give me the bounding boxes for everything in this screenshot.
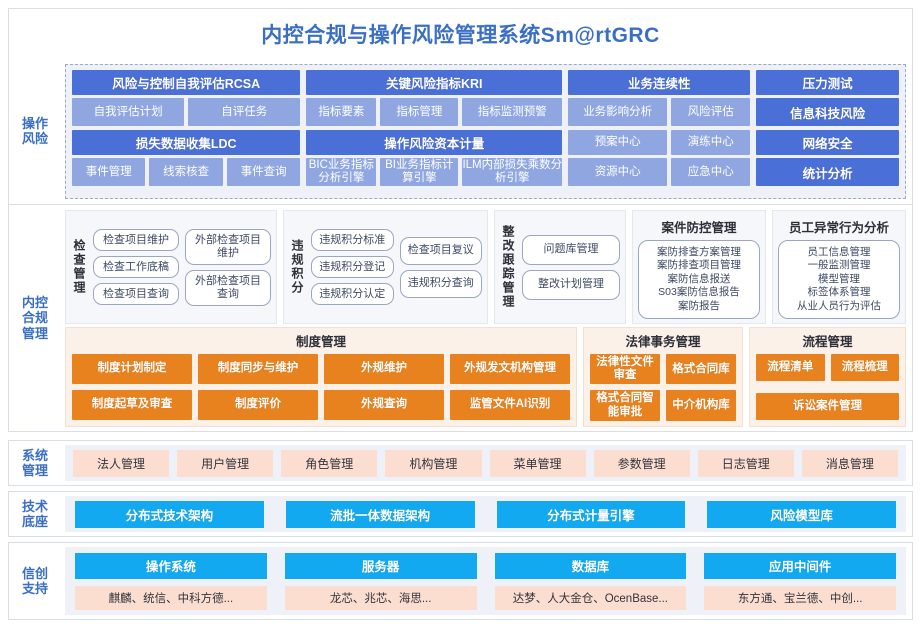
pill-inspection-working-paper[interactable]: 检查工作底稿 <box>93 256 179 278</box>
card-title-employee-abnormal-behavior: 员工异常行为分析 <box>778 215 900 236</box>
grid-legal-affairs: 法律性文件审查 格式合同智能审批 格式合同库 中介机构库 <box>590 354 736 421</box>
op-subrow-rcsa: 自我评估计划 自评任务 <box>72 98 300 126</box>
btn-policy-sync-maintenance[interactable]: 制度同步与维护 <box>198 354 318 384</box>
btn-regulatory-document-ai-recognition[interactable]: 监管文件AI识别 <box>450 390 570 420</box>
btn-process-combing[interactable]: 流程梳理 <box>831 354 900 381</box>
process-row-1: 流程清单 流程梳理 <box>756 354 899 381</box>
pillcol-rectification: 问题库管理 整改计划管理 <box>522 235 620 300</box>
card-label-rectification-tracking: 整改跟踪管理 <box>500 225 516 309</box>
op-group-capital-measurement: 操作风险资本计量 BIC业务指标分析引擎 BI业务指标计算引擎 ILM内部损失乘… <box>306 130 562 186</box>
card-employee-abnormal-behavior: 员工异常行为分析 员工信息管理 一般监测管理 模型管理 标签体系管理 从业人员行… <box>772 210 906 324</box>
pillcol-inspection-b: 外部检查项目维护 外部检查项目查询 <box>185 229 271 306</box>
op-subrow-it-risk: 信息科技风险 <box>756 98 899 126</box>
op-header-ldc[interactable]: 损失数据收集LDC <box>72 130 300 155</box>
band-label-line-2: 支持 <box>22 581 48 596</box>
list-item-case-plan-management: 案防排查方案管理 <box>645 246 753 259</box>
op-group-centers: 预案中心 演练中心 资源中心 应急中心 <box>568 130 750 186</box>
band-xinchuang-support: 信创 支持 操作系统 麒麟、统信、中科方德... 服务器 龙芯、兆芯、海思...… <box>8 542 913 620</box>
band-operational-risk: 操作 风险 风险与控制自我评估RCSA 自我评估计划 自评任务 关键风险指标KR… <box>8 58 913 205</box>
tech-item-risk-model-library[interactable]: 风险模型库 <box>707 501 896 528</box>
op-subrow-kri: 指标要素 指标管理 指标监测预警 <box>306 98 562 126</box>
page-title-bar: 内控合规与操作风险管理系统Sm@rtGRC <box>8 8 913 58</box>
op-group-business-continuity: 业务连续性 业务影响分析 风险评估 <box>568 70 750 126</box>
grid-process-management: 流程清单 流程梳理 诉讼案件管理 <box>756 354 899 420</box>
sys-item-user-management[interactable]: 用户管理 <box>177 450 273 477</box>
op-item-indicator-elements[interactable]: 指标要素 <box>306 98 376 126</box>
xc-head-server[interactable]: 服务器 <box>285 553 477 579</box>
band-body-tech-base: 分布式技术架构 流批一体数据架构 分布式计量引擎 风险模型库 <box>61 492 912 536</box>
list-item-case-report: 案防报告 <box>645 300 753 313</box>
process-row-2: 诉讼案件管理 <box>756 393 899 420</box>
band-tech-base: 技术 底座 分布式技术架构 流批一体数据架构 分布式计量引擎 风险模型库 <box>8 491 913 537</box>
list-item-tag-system-management: 标签体系管理 <box>785 286 893 299</box>
btn-legal-document-review[interactable]: 法律性文件审查 <box>590 354 660 384</box>
band-label-xinchuang-support: 信创 支持 <box>9 543 61 619</box>
op-item-event-management[interactable]: 事件管理 <box>72 158 145 186</box>
xc-column-application-middleware: 应用中间件 东方通、宝兰德、中创... <box>704 553 896 610</box>
xc-body-application-middleware[interactable]: 东方通、宝兰德、中创... <box>704 586 896 610</box>
op-item-plan-center[interactable]: 预案中心 <box>568 130 667 155</box>
pill-external-inspection-query[interactable]: 外部检查项目查询 <box>185 270 271 306</box>
xinchuang-columns: 操作系统 麒麟、统信、中科方德... 服务器 龙芯、兆芯、海思... 数据库 达… <box>65 547 906 615</box>
policy-col-4: 外规发文机构管理 监管文件AI识别 <box>450 354 570 420</box>
band-label-line-2: 管理 <box>22 463 48 478</box>
policy-col-2: 制度同步与维护 制度评价 <box>198 354 318 420</box>
op-group-stress-test: 压力测试 信息科技风险 <box>756 70 899 126</box>
card-violation-points: 违规积分 违规积分标准 违规积分登记 违规积分认定 检查项目复议 违规积分查询 <box>283 210 488 324</box>
op-group-security-stats: 网络安全 统计分析 <box>756 130 899 186</box>
op-group-kri: 关键风险指标KRI 指标要素 指标管理 指标监测预警 <box>306 70 562 126</box>
op-header-business-continuity[interactable]: 业务连续性 <box>568 70 750 95</box>
pill-problem-library-management[interactable]: 问题库管理 <box>522 235 620 265</box>
btn-policy-plan-formulation[interactable]: 制度计划制定 <box>72 354 192 384</box>
list-item-general-monitoring-management: 一般监测管理 <box>785 259 893 272</box>
pillcol-violation-b: 检查项目复议 违规积分查询 <box>400 237 483 298</box>
op-subrow-centers-1: 预案中心 演练中心 <box>568 130 750 155</box>
op-item-bi-engine[interactable]: BI业务指标计算引擎 <box>380 158 458 186</box>
sys-item-parameter-management[interactable]: 参数管理 <box>594 450 690 477</box>
band-label-line-1: 操作 <box>22 116 48 131</box>
pill-inspection-item-review[interactable]: 检查项目复议 <box>400 237 483 265</box>
band-label-line-1: 技术 <box>22 499 48 514</box>
xc-head-application-middleware[interactable]: 应用中间件 <box>704 553 896 579</box>
band-system-management: 系统 管理 法人管理 用户管理 角色管理 机构管理 菜单管理 参数管理 日志管理… <box>8 440 913 486</box>
legal-col-1: 法律性文件审查 格式合同智能审批 <box>590 354 660 421</box>
card-title-policy-management: 制度管理 <box>72 331 570 350</box>
op-item-risk-assessment[interactable]: 风险评估 <box>671 98 750 126</box>
system-management-items: 法人管理 用户管理 角色管理 机构管理 菜单管理 参数管理 日志管理 消息管理 <box>65 445 906 481</box>
band-body-xinchuang-support: 操作系统 麒麟、统信、中科方德... 服务器 龙芯、兆芯、海思... 数据库 达… <box>61 543 912 619</box>
pill-external-inspection-maintenance[interactable]: 外部检查项目维护 <box>185 229 271 265</box>
op-item-drill-center[interactable]: 演练中心 <box>671 130 750 155</box>
op-group-ldc: 损失数据收集LDC 事件管理 线索核查 事件查询 <box>72 130 300 186</box>
xc-column-server: 服务器 龙芯、兆芯、海思... <box>285 553 477 610</box>
card-label-inspection-management: 检查管理 <box>71 239 87 295</box>
internal-control-bottom-cards: 制度管理 制度计划制定 制度起草及审查 制度同步与维护 制度评价 外规维护 外规 <box>65 327 906 427</box>
op-item-clue-verification[interactable]: 线索核查 <box>149 158 222 186</box>
pill-violation-points-standard[interactable]: 违规积分标准 <box>311 229 394 251</box>
card-inspection-management: 检查管理 检查项目维护 检查工作底稿 检查项目查询 外部检查项目维护 外部检查项… <box>65 210 277 324</box>
band-label-line-2: 风险 <box>22 131 48 146</box>
sys-item-role-management[interactable]: 角色管理 <box>281 450 377 477</box>
op-subrow-network-security: 网络安全 <box>756 130 899 155</box>
pillcol-violation-a: 违规积分标准 违规积分登记 违规积分认定 <box>311 229 394 305</box>
card-legal-affairs-management: 法律事务管理 法律性文件审查 格式合同智能审批 格式合同库 中介机构库 <box>583 327 743 427</box>
pill-violation-points-confirmation[interactable]: 违规积分认定 <box>311 283 394 305</box>
band-body-internal-control: 检查管理 检查项目维护 检查工作底稿 检查项目查询 外部检查项目维护 外部检查项… <box>61 205 912 431</box>
operational-risk-grid: 风险与控制自我评估RCSA 自我评估计划 自评任务 关键风险指标KRI 指标要素… <box>65 64 906 199</box>
band-body-operational-risk: 风险与控制自我评估RCSA 自我评估计划 自评任务 关键风险指标KRI 指标要素… <box>61 58 912 204</box>
op-item-self-assessment-task[interactable]: 自评任务 <box>188 98 300 126</box>
grid-policy-management: 制度计划制定 制度起草及审查 制度同步与维护 制度评价 外规维护 外规查询 <box>72 354 570 420</box>
op-header-capital-measurement[interactable]: 操作风险资本计量 <box>306 130 562 155</box>
op-subrow-ldc: 事件管理 线索核查 事件查询 <box>72 158 300 186</box>
op-subrow-bcm: 业务影响分析 风险评估 <box>568 98 750 126</box>
op-item-self-assessment-plan[interactable]: 自我评估计划 <box>72 98 184 126</box>
band-label-line-1: 信创 <box>22 566 48 581</box>
list-item-model-management: 模型管理 <box>785 273 893 286</box>
card-title-case-prevention: 案件防控管理 <box>638 215 760 236</box>
op-item-business-impact-analysis[interactable]: 业务影响分析 <box>568 98 667 126</box>
band-label-line-2: 合规 <box>22 310 48 325</box>
tech-item-distributed-measurement-engine[interactable]: 分布式计量引擎 <box>497 501 686 528</box>
sys-item-log-management[interactable]: 日志管理 <box>698 450 794 477</box>
band-label-operational-risk: 操作 风险 <box>9 58 61 204</box>
policy-col-3: 外规维护 外规查询 <box>324 354 444 420</box>
op-item-ilm-engine[interactable]: ILM内部损失乘数分析引擎 <box>462 158 562 186</box>
sys-item-menu-management[interactable]: 菜单管理 <box>490 450 586 477</box>
list-item-s03-case-info-report: S03案防信息报告 <box>645 286 753 299</box>
btn-process-list[interactable]: 流程清单 <box>756 354 825 381</box>
xc-column-database: 数据库 达梦、人大金仓、OcenBase... <box>495 553 687 610</box>
op-item-resource-center[interactable]: 资源中心 <box>568 158 667 186</box>
pill-violation-points-query[interactable]: 违规积分查询 <box>400 270 483 298</box>
list-item-employee-info-management: 员工信息管理 <box>785 246 893 259</box>
pill-inspection-item-maintenance[interactable]: 检查项目维护 <box>93 229 179 251</box>
xc-column-operating-system: 操作系统 麒麟、统信、中科方德... <box>75 553 267 610</box>
card-process-management: 流程管理 流程清单 流程梳理 诉讼案件管理 <box>749 327 906 427</box>
op-item-it-risk[interactable]: 信息科技风险 <box>756 98 899 126</box>
xc-head-database[interactable]: 数据库 <box>495 553 687 579</box>
tech-item-stream-batch-data-architecture[interactable]: 流批一体数据架构 <box>286 501 475 528</box>
card-case-prevention: 案件防控管理 案防排查方案管理 案防排查项目管理 案防信息报送 S03案防信息报… <box>632 210 766 324</box>
list-item-case-info-submission: 案防信息报送 <box>645 273 753 286</box>
op-item-network-security[interactable]: 网络安全 <box>756 130 899 155</box>
btn-external-regulation-maintenance[interactable]: 外规维护 <box>324 354 444 384</box>
band-body-system-management: 法人管理 用户管理 角色管理 机构管理 菜单管理 参数管理 日志管理 消息管理 <box>61 441 912 485</box>
btn-external-regulation-query[interactable]: 外规查询 <box>324 390 444 420</box>
band-label-internal-control: 内控 合规 管理 <box>9 205 61 431</box>
card-policy-management: 制度管理 制度计划制定 制度起草及审查 制度同步与维护 制度评价 外规维护 外规 <box>65 327 577 427</box>
sys-item-legal-entity-management[interactable]: 法人管理 <box>73 450 169 477</box>
op-subrow-statistics: 统计分析 <box>756 158 899 186</box>
op-row-2: 损失数据收集LDC 事件管理 线索核查 事件查询 操作风险资本计量 BIC业务指… <box>72 130 899 186</box>
btn-intermediary-agency-library[interactable]: 中介机构库 <box>666 390 736 420</box>
op-item-indicator-monitoring-alert[interactable]: 指标监测预警 <box>462 98 562 126</box>
op-item-event-query[interactable]: 事件查询 <box>227 158 300 186</box>
card-title-process-management: 流程管理 <box>756 331 899 350</box>
btn-standard-contract-smart-approval[interactable]: 格式合同智能审批 <box>590 390 660 420</box>
btn-litigation-case-management[interactable]: 诉讼案件管理 <box>756 393 899 420</box>
op-item-statistical-analysis[interactable]: 统计分析 <box>756 158 899 186</box>
xc-body-database[interactable]: 达梦、人大金仓、OcenBase... <box>495 586 687 610</box>
card-label-violation-points: 违规积分 <box>289 239 305 295</box>
sys-item-organization-management[interactable]: 机构管理 <box>385 450 481 477</box>
band-label-system-management: 系统 管理 <box>9 441 61 485</box>
tech-item-distributed-architecture[interactable]: 分布式技术架构 <box>75 501 264 528</box>
tech-base-items: 分布式技术架构 流批一体数据架构 分布式计量引擎 风险模型库 <box>65 496 906 532</box>
xc-head-operating-system[interactable]: 操作系统 <box>75 553 267 579</box>
pill-rectification-plan-management[interactable]: 整改计划管理 <box>522 270 620 300</box>
list-employee-abnormal-behavior[interactable]: 员工信息管理 一般监测管理 模型管理 标签体系管理 从业人员行为评估 <box>778 240 900 319</box>
page-title: 内控合规与操作风险管理系统Sm@rtGRC <box>261 19 660 49</box>
legal-col-2: 格式合同库 中介机构库 <box>666 354 736 421</box>
card-title-legal-affairs-management: 法律事务管理 <box>590 331 736 350</box>
btn-external-issuing-agency-management[interactable]: 外规发文机构管理 <box>450 354 570 384</box>
list-item-case-project-management: 案防排查项目管理 <box>645 259 753 272</box>
pill-violation-points-registration[interactable]: 违规积分登记 <box>311 256 394 278</box>
band-label-line-1: 内控 <box>22 295 48 310</box>
btn-policy-evaluation[interactable]: 制度评价 <box>198 390 318 420</box>
op-header-stress-test[interactable]: 压力测试 <box>756 70 899 95</box>
op-row-1: 风险与控制自我评估RCSA 自我评估计划 自评任务 关键风险指标KRI 指标要素… <box>72 70 899 126</box>
op-item-emergency-center[interactable]: 应急中心 <box>671 158 750 186</box>
op-item-bic-engine[interactable]: BIC业务指标分析引擎 <box>306 158 376 186</box>
pillcol-inspection-a: 检查项目维护 检查工作底稿 检查项目查询 <box>93 229 179 305</box>
op-group-rcsa: 风险与控制自我评估RCSA 自我评估计划 自评任务 <box>72 70 300 126</box>
band-internal-control: 内控 合规 管理 检查管理 检查项目维护 检查工作底稿 检查项目查询 外部检查项… <box>8 205 913 432</box>
band-label-line-3: 管理 <box>22 326 48 341</box>
btn-policy-draft-review[interactable]: 制度起草及审查 <box>72 390 192 420</box>
architecture-diagram-page: 内控合规与操作风险管理系统Sm@rtGRC 操作 风险 风险与控制自我评估RCS… <box>0 0 921 640</box>
op-subrow-centers-2: 资源中心 应急中心 <box>568 158 750 186</box>
band-label-tech-base: 技术 底座 <box>9 492 61 536</box>
list-item-practitioner-behavior-assessment: 从业人员行为评估 <box>785 300 893 313</box>
xc-body-server[interactable]: 龙芯、兆芯、海思... <box>285 586 477 610</box>
sys-item-message-management[interactable]: 消息管理 <box>802 450 898 477</box>
op-header-rcsa[interactable]: 风险与控制自我评估RCSA <box>72 70 300 95</box>
internal-control-top-cards: 检查管理 检查项目维护 检查工作底稿 检查项目查询 外部检查项目维护 外部检查项… <box>65 210 906 324</box>
policy-col-1: 制度计划制定 制度起草及审查 <box>72 354 192 420</box>
op-header-kri[interactable]: 关键风险指标KRI <box>306 70 562 95</box>
band-label-line-1: 系统 <box>22 448 48 463</box>
op-item-indicator-management[interactable]: 指标管理 <box>380 98 458 126</box>
list-case-prevention[interactable]: 案防排查方案管理 案防排查项目管理 案防信息报送 S03案防信息报告 案防报告 <box>638 240 760 319</box>
op-subrow-capital: BIC业务指标分析引擎 BI业务指标计算引擎 ILM内部损失乘数分析引擎 <box>306 158 562 186</box>
pill-inspection-item-query[interactable]: 检查项目查询 <box>93 283 179 305</box>
btn-standard-contract-library[interactable]: 格式合同库 <box>666 354 736 384</box>
card-rectification-tracking: 整改跟踪管理 问题库管理 整改计划管理 <box>494 210 626 324</box>
band-label-line-2: 底座 <box>22 514 48 529</box>
xc-body-operating-system[interactable]: 麒麟、统信、中科方德... <box>75 586 267 610</box>
